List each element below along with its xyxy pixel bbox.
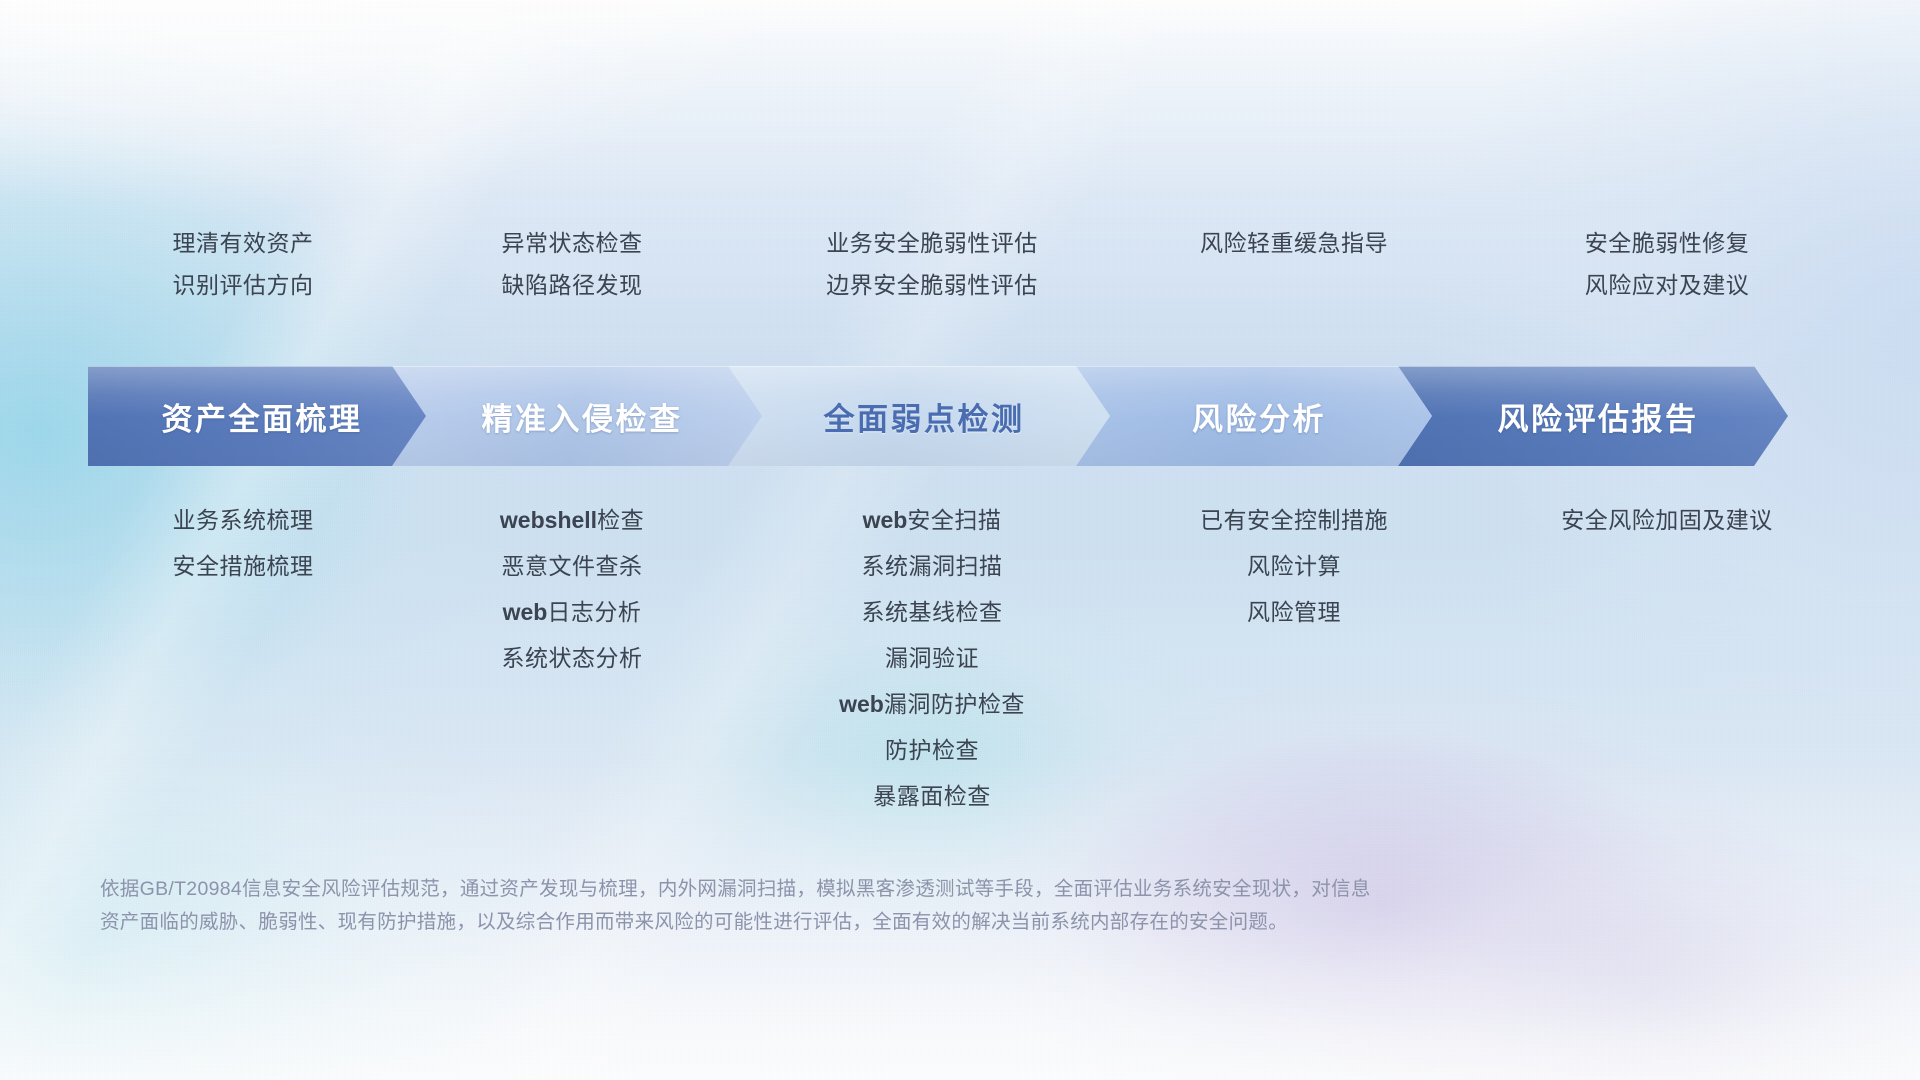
output-label: webshell检查: [500, 505, 644, 535]
stage-inputs-intrusion-check: 异常状态检查 缺陷路径发现: [398, 228, 746, 338]
footer-line-2: 资产面临的威胁、脆弱性、现有防护措施，以及综合作用而带来风险的可能性进行评估，全…: [100, 906, 1740, 939]
chevron-label: 资产全面梳理: [152, 394, 363, 439]
stage-inputs-asset-inventory: 理清有效资产 识别评估方向: [88, 228, 398, 338]
output-label: 系统漏洞扫描: [862, 551, 1003, 581]
stage-outputs-asset-inventory: 业务系统梳理 安全措施梳理: [88, 505, 398, 811]
input-label: 业务安全脆弱性评估: [826, 228, 1038, 258]
output-label: 已有安全控制措施: [1200, 505, 1388, 535]
stage-inputs-weakness-detection: 业务安全脆弱性评估 边界安全脆弱性评估: [746, 228, 1118, 338]
chevron-label: 全面弱点检测: [814, 394, 1025, 439]
stage-outputs-risk-analysis: 已有安全控制措施 风险计算 风险管理: [1118, 505, 1470, 811]
output-label: 安全措施梳理: [173, 551, 314, 581]
footer-line-1: 依据GB/T20984信息安全风险评估规范，通过资产发现与梳理，内外网漏洞扫描，…: [100, 873, 1740, 906]
chevron-stage-intrusion-check[interactable]: 精准入侵检查: [392, 366, 762, 466]
output-label: web日志分析: [503, 597, 642, 627]
stage-inputs-risk-analysis: 风险轻重缓急指导: [1118, 228, 1470, 338]
chevron-stage-asset-inventory[interactable]: 资产全面梳理: [88, 366, 426, 466]
output-label: 业务系统梳理: [173, 505, 314, 535]
output-label: 漏洞验证: [885, 643, 979, 673]
output-label: 防护检查: [885, 735, 979, 765]
chevron-stage-risk-analysis[interactable]: 风险分析: [1076, 366, 1432, 466]
chevron-label: 精准入侵检查: [472, 394, 683, 439]
stage-inputs-risk-report: 安全脆弱性修复 风险应对及建议: [1470, 228, 1864, 338]
stage-inputs-row: 理清有效资产 识别评估方向 异常状态检查 缺陷路径发现 业务安全脆弱性评估 边界…: [88, 228, 1864, 338]
chevron-label: 风险分析: [1182, 394, 1326, 439]
output-label: web漏洞防护检查: [839, 689, 1025, 719]
output-label: 暴露面检查: [873, 781, 991, 811]
output-label: web安全扫描: [863, 505, 1002, 535]
output-label: 风险管理: [1247, 597, 1341, 627]
stage-outputs-intrusion-check: webshell检查 恶意文件查杀 web日志分析 系统状态分析: [398, 505, 746, 811]
stage-outputs-risk-report: 安全风险加固及建议: [1470, 505, 1864, 811]
input-label: 识别评估方向: [173, 270, 314, 300]
chevron-stage-weakness-detection[interactable]: 全面弱点检测: [728, 366, 1110, 466]
output-label: 风险计算: [1247, 551, 1341, 581]
output-label: 系统基线检查: [862, 597, 1003, 627]
process-chevron-banner: 资产全面梳理 精准入侵检查 全面弱点检测 风险分析 风险评估报告: [88, 366, 1856, 466]
input-label: 风险轻重缓急指导: [1200, 228, 1388, 258]
chevron-stage-risk-report[interactable]: 风险评估报告: [1398, 366, 1788, 466]
footer-description: 依据GB/T20984信息安全风险评估规范，通过资产发现与梳理，内外网漏洞扫描，…: [100, 873, 1740, 939]
output-label: 系统状态分析: [502, 643, 643, 673]
slide-canvas: 理清有效资产 识别评估方向 异常状态检查 缺陷路径发现 业务安全脆弱性评估 边界…: [0, 0, 1920, 1080]
input-label: 安全脆弱性修复: [1585, 228, 1750, 258]
output-label: 安全风险加固及建议: [1561, 505, 1773, 535]
stage-outputs-weakness-detection: web安全扫描 系统漏洞扫描 系统基线检查 漏洞验证 web漏洞防护检查 防护检…: [746, 505, 1118, 811]
input-label: 异常状态检查: [502, 228, 643, 258]
input-label: 边界安全脆弱性评估: [826, 270, 1038, 300]
chevron-label: 风险评估报告: [1488, 394, 1699, 439]
input-label: 风险应对及建议: [1585, 270, 1750, 300]
input-label: 理清有效资产: [173, 228, 314, 258]
input-label: 缺陷路径发现: [502, 270, 643, 300]
stage-outputs-row: 业务系统梳理 安全措施梳理 webshell检查 恶意文件查杀 web日志分析 …: [88, 505, 1864, 811]
output-label: 恶意文件查杀: [502, 551, 643, 581]
